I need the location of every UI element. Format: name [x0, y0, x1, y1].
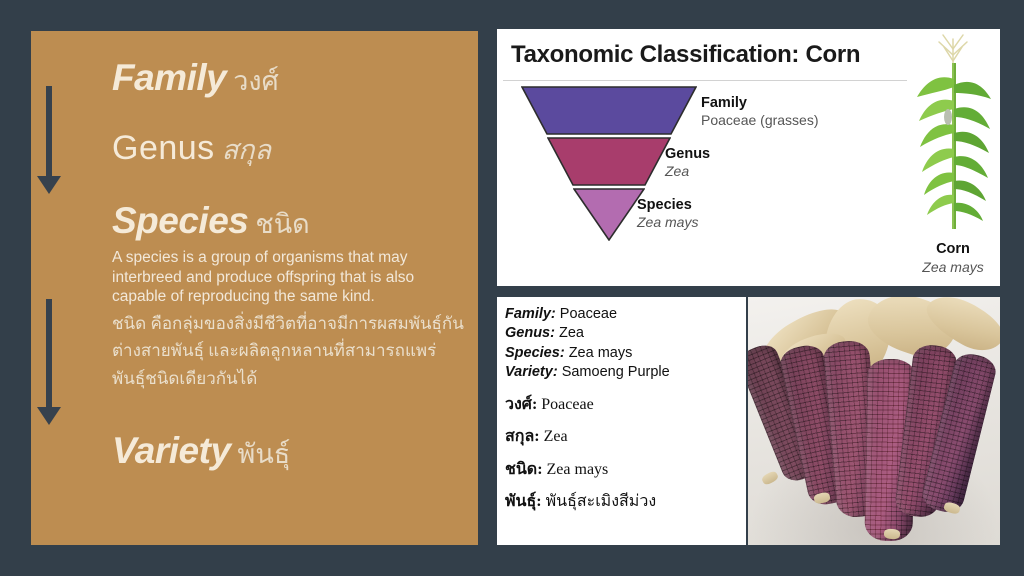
purple-corn-photo: [748, 297, 1000, 545]
arrow-head: [37, 176, 61, 194]
species-definition-thai: ชนิด คือกลุ่มของสิ่งมีชีวิตที่อาจมีการผส…: [112, 310, 464, 393]
corn-illustration-caption: Corn Zea mays: [911, 241, 995, 275]
funnel-label-species-rank: Species: [637, 197, 698, 214]
heading-family-th: วงศ์: [233, 66, 278, 96]
info-value-species-en: Zea mays: [569, 345, 633, 361]
info-row-species-en: Species: Zea mays: [505, 344, 742, 363]
funnel-label-family-rank: Family: [701, 95, 819, 112]
info-label-genus-en: Genus:: [505, 325, 555, 341]
info-label-variety-th: พันธุ์:: [505, 493, 542, 510]
funnel-label-species-scientific: Zea mays: [637, 214, 698, 231]
info-row-genus-en: Genus: Zea: [505, 324, 742, 343]
funnel-label-genus-scientific: Zea: [665, 163, 710, 180]
info-label-genus-th: สกุล:: [505, 428, 540, 445]
taxonomy-ranks-panel: Familyวงศ์ Genusสกุล Speciesชนิด A speci…: [31, 31, 478, 545]
info-value-variety-th: พันธุ์สะเมิงสีม่วง: [546, 493, 657, 510]
corn-silk: [884, 528, 901, 539]
ranks-content: Familyวงศ์ Genusสกุล Speciesชนิด A speci…: [112, 39, 470, 469]
funnel-label-species: Species Zea mays: [637, 197, 698, 231]
arrow-head: [37, 407, 61, 425]
arrow-shaft: [46, 86, 52, 178]
heading-variety-th: พันธุ์: [238, 439, 291, 469]
info-row-variety-th: พันธุ์: พันธุ์สะเมิงสีม่วง: [505, 492, 742, 511]
species-definition-english: A species is a group of organisms that m…: [112, 248, 464, 307]
info-value-genus-en: Zea: [559, 325, 584, 341]
heading-family: Familyวงศ์: [112, 59, 470, 96]
info-value-family-th: Poaceae: [541, 396, 593, 413]
info-row-species-th: ชนิด: Zea mays: [505, 460, 742, 479]
info-value-species-th: Zea mays: [547, 461, 609, 478]
heading-genus: Genusสกุล: [112, 131, 470, 165]
funnel-label-family: Family Poaceae (grasses): [701, 95, 819, 129]
info-row-genus-th: สกุล: Zea: [505, 427, 742, 446]
funnel-label-genus: Genus Zea: [665, 146, 710, 180]
info-value-genus-th: Zea: [544, 428, 568, 445]
classification-list: Family: Poaceae Genus: Zea Species: Zea …: [505, 305, 742, 511]
funnel-label-genus-rank: Genus: [665, 146, 710, 163]
heading-species-th: ชนิด: [255, 209, 309, 239]
corn-common-name: Corn: [911, 241, 995, 257]
funnel-tier-species: [573, 188, 645, 241]
info-label-family-en: Family:: [505, 306, 556, 322]
photo-background: [748, 297, 1000, 545]
info-label-variety-en: Variety:: [505, 364, 558, 380]
heading-genus-en: Genus: [112, 129, 215, 167]
funnel-label-family-scientific: Poaceae (grasses): [701, 112, 819, 129]
title-divider: [503, 80, 907, 81]
corn-plant-icon: [911, 33, 995, 243]
info-value-family-en: Poaceae: [560, 306, 617, 322]
heading-species: Speciesชนิด: [112, 202, 470, 239]
heading-family-en: Family: [112, 57, 226, 98]
down-arrow-icon-bottom: [31, 299, 67, 429]
heading-variety: Varietyพันธุ์: [112, 432, 470, 469]
taxonomy-card-title: Taxonomic Classification: Corn: [511, 41, 860, 69]
corn-silk: [761, 470, 780, 486]
info-label-family-th: วงศ์:: [505, 396, 537, 413]
funnel-tier-family: [521, 86, 697, 135]
info-value-variety-en: Samoeng Purple: [562, 364, 670, 380]
funnel-tier-genus: [547, 137, 671, 186]
info-row-variety-en: Variety: Samoeng Purple: [505, 363, 742, 382]
inverted-funnel-diagram: [517, 86, 707, 276]
info-row-family-th: วงศ์: Poaceae: [505, 395, 742, 414]
heading-genus-th: สกุล: [222, 135, 271, 165]
taxonomic-classification-card: Taxonomic Classification: Corn Family Po…: [497, 29, 1000, 286]
corn-scientific-name: Zea mays: [911, 259, 995, 275]
info-row-family-en: Family: Poaceae: [505, 305, 742, 324]
info-label-species-th: ชนิด:: [505, 461, 543, 478]
info-label-species-en: Species:: [505, 345, 565, 361]
down-arrow-icon-top: [31, 86, 67, 196]
classification-info-card: Family: Poaceae Genus: Zea Species: Zea …: [497, 297, 746, 545]
arrow-shaft: [46, 299, 52, 409]
heading-species-en: Species: [112, 200, 248, 241]
heading-variety-en: Variety: [112, 430, 231, 471]
